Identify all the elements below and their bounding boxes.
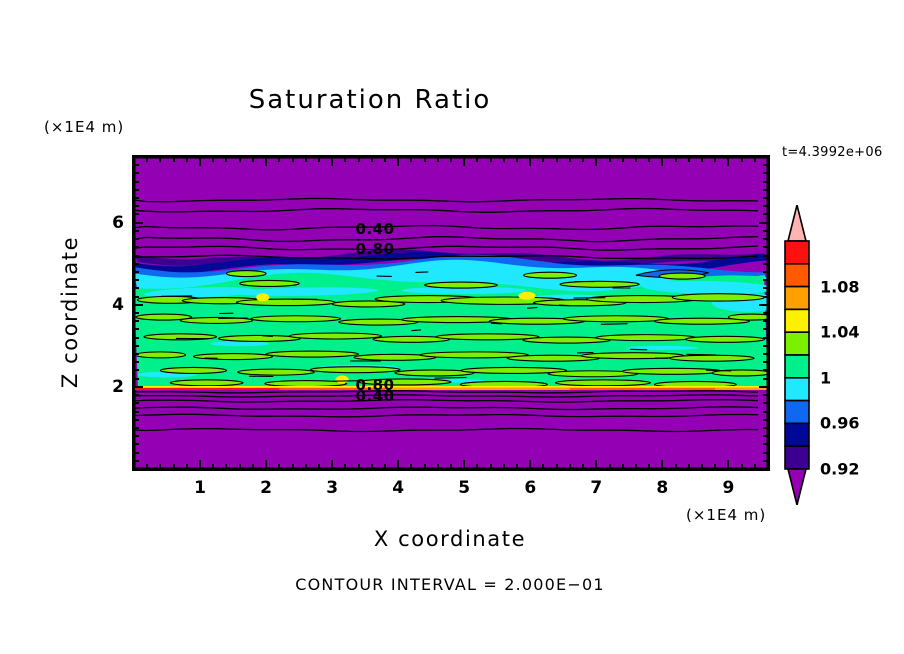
y-tick-right xyxy=(763,411,768,413)
x-tick-top xyxy=(212,157,214,162)
x-tick xyxy=(661,460,663,469)
x-tick xyxy=(609,464,611,469)
y-tick-right xyxy=(763,263,768,265)
x-tick-top xyxy=(305,157,307,162)
y-tick-right xyxy=(763,189,768,191)
x-tick-top xyxy=(292,157,294,162)
x-tick xyxy=(225,464,227,469)
contour-line xyxy=(686,354,716,355)
contour-lens xyxy=(170,380,243,386)
contour-lens xyxy=(622,368,722,374)
y-tick xyxy=(134,361,139,363)
x-tick xyxy=(754,464,756,469)
x-tick-top xyxy=(252,157,254,162)
x-tick xyxy=(688,464,690,469)
contour-lens xyxy=(310,367,400,373)
y-tick xyxy=(134,287,139,289)
y-tick xyxy=(134,394,139,396)
x-tick xyxy=(358,464,360,469)
colorbar-swatch xyxy=(785,355,809,378)
x-tick xyxy=(437,464,439,469)
y-tick-right xyxy=(763,378,768,380)
x-tick-top xyxy=(727,157,729,166)
plot-area xyxy=(132,155,770,471)
y-tick-right xyxy=(763,402,768,404)
x-tick-top xyxy=(490,157,492,162)
colorbar xyxy=(782,205,812,505)
x-tick-top xyxy=(569,157,571,162)
x-tick-top xyxy=(424,157,426,162)
y-tick xyxy=(134,296,139,298)
x-tick-label: 6 xyxy=(524,478,536,498)
x-tick-top xyxy=(371,157,373,162)
contour-lens xyxy=(555,380,650,386)
y-tick xyxy=(134,181,139,183)
y-axis-unit-label: (×1E4 m) xyxy=(44,118,124,136)
contour-lens xyxy=(238,369,315,375)
time-annotation: t=4.3992e+06 xyxy=(782,145,883,160)
contour-lens xyxy=(563,316,669,322)
x-tick-top xyxy=(556,157,558,162)
x-tick-label: 9 xyxy=(722,478,734,498)
contour-lens xyxy=(560,281,639,287)
x-tick-top xyxy=(159,157,161,162)
y-tick-right xyxy=(763,279,768,281)
x-tick xyxy=(542,464,544,469)
x-tick xyxy=(529,460,531,469)
y-tick xyxy=(134,443,139,445)
x-tick xyxy=(212,464,214,469)
contour-lens xyxy=(266,351,358,357)
x-tick-top xyxy=(595,157,597,166)
y-tick xyxy=(134,460,139,462)
x-tick-top xyxy=(529,157,531,166)
y-tick xyxy=(134,427,139,429)
field-patch xyxy=(518,292,535,300)
contour-label: 0.80 xyxy=(356,240,395,258)
colorbar-swatch xyxy=(785,378,809,401)
y-tick-right xyxy=(763,361,768,363)
y-tick xyxy=(134,230,139,232)
x-tick-top xyxy=(146,157,148,162)
y-tick xyxy=(134,452,139,454)
x-tick xyxy=(331,460,333,469)
contour-lens xyxy=(524,272,577,278)
y-tick xyxy=(134,378,139,380)
colorbar-swatch xyxy=(785,287,809,310)
x-tick xyxy=(371,464,373,469)
x-axis-unit-label: (×1E4 m) xyxy=(686,506,766,524)
y-tick-right xyxy=(763,443,768,445)
x-tick xyxy=(159,464,161,469)
y-tick xyxy=(134,369,139,371)
contour-lens xyxy=(160,367,226,373)
x-tick-top xyxy=(688,157,690,162)
x-tick xyxy=(675,464,677,469)
y-tick xyxy=(134,468,139,470)
colorbar-swatch xyxy=(785,264,809,287)
x-tick-top xyxy=(265,157,267,166)
contour-lens xyxy=(251,316,341,322)
colorbar-swatch xyxy=(785,446,809,469)
x-tick-top xyxy=(635,157,637,162)
x-tick-top xyxy=(582,157,584,162)
y-axis-title: Z coordinate xyxy=(58,202,82,422)
x-tick xyxy=(384,464,386,469)
y-tick xyxy=(134,255,139,257)
y-tick-right xyxy=(763,460,768,462)
x-tick-top xyxy=(278,157,280,162)
x-tick-label: 7 xyxy=(590,478,602,498)
x-tick-label: 5 xyxy=(458,478,470,498)
x-tick xyxy=(516,464,518,469)
page-title: Saturation Ratio xyxy=(0,85,740,115)
contour-line xyxy=(601,324,628,325)
contour-lens xyxy=(728,314,768,320)
x-tick xyxy=(344,464,346,469)
y-tick xyxy=(134,312,139,314)
x-tick-top xyxy=(318,157,320,162)
contour-lens xyxy=(226,271,266,277)
contour-lens xyxy=(425,282,498,288)
x-tick-top xyxy=(714,157,716,162)
y-tick xyxy=(134,164,139,166)
x-tick xyxy=(450,464,452,469)
y-tick xyxy=(134,238,139,240)
x-tick-top xyxy=(344,157,346,162)
x-tick xyxy=(397,460,399,469)
x-tick-label: 2 xyxy=(260,478,272,498)
x-tick xyxy=(490,464,492,469)
contour-lens xyxy=(581,353,684,359)
x-tick-top xyxy=(701,157,703,162)
colorbar-tick-label: 1.08 xyxy=(820,277,859,296)
y-tick-right xyxy=(763,369,768,371)
x-tick xyxy=(146,464,148,469)
y-tick-right xyxy=(763,452,768,454)
x-tick-label: 8 xyxy=(656,478,668,498)
contour-line xyxy=(262,336,272,337)
x-tick xyxy=(648,464,650,469)
x-tick-top xyxy=(225,157,227,162)
y-tick-right xyxy=(763,328,768,330)
colorbar-tick-label: 0.96 xyxy=(820,414,859,433)
y-tick-right xyxy=(763,255,768,257)
x-tick xyxy=(318,464,320,469)
contour-lens xyxy=(436,334,539,340)
x-tick xyxy=(173,464,175,469)
field-patch xyxy=(335,376,348,384)
y-tick-right xyxy=(763,271,768,273)
x-tick-top xyxy=(503,157,505,162)
y-tick xyxy=(134,279,139,281)
x-tick-top xyxy=(622,157,624,162)
x-tick xyxy=(701,464,703,469)
contour-line xyxy=(435,378,467,379)
x-tick-top xyxy=(476,157,478,162)
colorbar-swatch xyxy=(785,309,809,332)
field-patch xyxy=(256,293,269,301)
x-tick-top xyxy=(741,157,743,162)
y-tick-right xyxy=(763,164,768,166)
x-tick xyxy=(252,464,254,469)
y-tick xyxy=(134,271,139,273)
y-tick xyxy=(134,197,139,199)
x-tick xyxy=(595,460,597,469)
y-tick xyxy=(134,263,139,265)
x-tick xyxy=(476,464,478,469)
contour-lens xyxy=(240,280,299,286)
y-tick-right xyxy=(763,246,768,248)
y-tick-right xyxy=(763,156,768,158)
x-tick xyxy=(278,464,280,469)
contour-lens xyxy=(659,273,705,279)
contour-lens xyxy=(672,294,764,301)
x-tick-top xyxy=(173,157,175,162)
y-tick-right xyxy=(759,386,768,388)
x-tick-label: 4 xyxy=(392,478,404,498)
x-tick xyxy=(635,464,637,469)
x-tick-label: 1 xyxy=(194,478,206,498)
y-tick-right xyxy=(763,287,768,289)
x-tick xyxy=(199,460,201,469)
y-tick xyxy=(134,205,139,207)
y-tick xyxy=(134,419,139,421)
contour-line xyxy=(527,308,538,309)
x-tick-top xyxy=(661,157,663,166)
colorbar-top-arrow xyxy=(788,205,806,241)
y-tick-right xyxy=(763,427,768,429)
y-tick xyxy=(134,156,139,158)
y-tick-right xyxy=(763,312,768,314)
y-tick xyxy=(134,411,139,413)
x-tick-top xyxy=(675,157,677,162)
y-tick xyxy=(134,213,139,215)
contour-field xyxy=(134,157,768,469)
colorbar-tick-label: 1 xyxy=(820,368,831,387)
contour-lens xyxy=(670,355,755,361)
y-tick-right xyxy=(763,296,768,298)
x-tick xyxy=(424,464,426,469)
x-tick xyxy=(727,460,729,469)
y-tick xyxy=(134,320,139,322)
x-tick xyxy=(582,464,584,469)
x-tick xyxy=(741,464,743,469)
contour-lens xyxy=(685,336,764,342)
x-tick xyxy=(463,460,465,469)
colorbar-swatch xyxy=(785,241,809,264)
colorbar-tick-label: 1.04 xyxy=(820,323,859,342)
x-tick-top xyxy=(648,157,650,162)
contour-line xyxy=(559,305,569,306)
y-tick-right xyxy=(763,345,768,347)
x-tick xyxy=(556,464,558,469)
x-tick-label: 3 xyxy=(326,478,338,498)
y-tick xyxy=(134,304,143,306)
x-tick xyxy=(622,464,624,469)
y-tick-right xyxy=(763,230,768,232)
y-tick-right xyxy=(763,172,768,174)
colorbar-swatch xyxy=(785,401,809,424)
y-tick-right xyxy=(759,304,768,306)
y-tick-right xyxy=(763,197,768,199)
x-tick-top xyxy=(186,157,188,162)
x-tick-top xyxy=(450,157,452,162)
colorbar-swatches xyxy=(782,205,812,505)
x-tick xyxy=(569,464,571,469)
x-tick-top xyxy=(331,157,333,166)
contour-label: 0.40 xyxy=(356,220,395,238)
y-tick-right xyxy=(763,394,768,396)
contour-label: 0.40 xyxy=(356,387,395,405)
colorbar-swatch xyxy=(785,332,809,355)
y-tick-right xyxy=(763,419,768,421)
y-tick-right xyxy=(763,353,768,355)
x-tick-top xyxy=(463,157,465,166)
x-tick xyxy=(305,464,307,469)
contour-line xyxy=(706,370,731,371)
y-tick xyxy=(134,172,139,174)
colorbar-tick-label: 0.92 xyxy=(820,460,859,479)
y-tick-right xyxy=(763,238,768,240)
x-tick-top xyxy=(516,157,518,162)
colorbar-bottom-arrow xyxy=(788,469,806,505)
x-tick xyxy=(503,464,505,469)
x-tick-top xyxy=(609,157,611,162)
y-tick-right xyxy=(763,181,768,183)
x-tick-top xyxy=(239,157,241,162)
y-tick xyxy=(134,328,139,330)
y-tick-right xyxy=(763,320,768,322)
y-tick-right xyxy=(763,435,768,437)
contour-interval-caption: CONTOUR INTERVAL = 2.000E−01 xyxy=(130,575,770,594)
y-tick-label: 6 xyxy=(104,213,124,233)
contour-line xyxy=(630,349,647,350)
x-tick-top xyxy=(542,157,544,162)
x-tick-top xyxy=(397,157,399,166)
contour-plot-figure: Saturation Ratio (×1E4 m) (×1E4 m) t=4.3… xyxy=(0,0,904,654)
x-tick-top xyxy=(754,157,756,162)
field-patch xyxy=(210,341,269,346)
y-tick xyxy=(134,345,139,347)
y-tick xyxy=(134,246,139,248)
x-tick xyxy=(239,464,241,469)
x-tick xyxy=(410,464,412,469)
contour-lens xyxy=(289,333,381,339)
contour-lens xyxy=(193,354,272,360)
contour-line xyxy=(491,323,502,324)
y-tick xyxy=(134,402,139,404)
contour-lens xyxy=(236,299,335,306)
x-tick-top xyxy=(410,157,412,162)
x-tick-top xyxy=(199,157,201,166)
y-tick-right xyxy=(763,205,768,207)
contour-lens xyxy=(596,335,696,341)
x-tick xyxy=(292,464,294,469)
y-tick-label: 4 xyxy=(104,295,124,315)
y-tick-right xyxy=(763,468,768,470)
colorbar-swatch xyxy=(785,423,809,446)
x-tick xyxy=(714,464,716,469)
contour-line xyxy=(416,272,429,273)
y-tick xyxy=(134,435,139,437)
x-tick xyxy=(186,464,188,469)
y-tick xyxy=(134,353,139,355)
y-tick-label: 2 xyxy=(104,377,124,397)
x-tick-top xyxy=(358,157,360,162)
contour-lens xyxy=(219,335,301,341)
x-tick-top xyxy=(437,157,439,162)
x-tick-top xyxy=(384,157,386,162)
y-tick-right xyxy=(759,222,768,224)
y-tick xyxy=(134,386,143,388)
y-tick xyxy=(134,337,139,339)
y-tick-right xyxy=(763,213,768,215)
y-tick-right xyxy=(763,337,768,339)
y-tick xyxy=(134,189,139,191)
y-tick xyxy=(134,222,143,224)
contour-lens xyxy=(135,352,185,358)
x-axis-title: X coordinate xyxy=(130,527,770,551)
x-tick xyxy=(265,460,267,469)
